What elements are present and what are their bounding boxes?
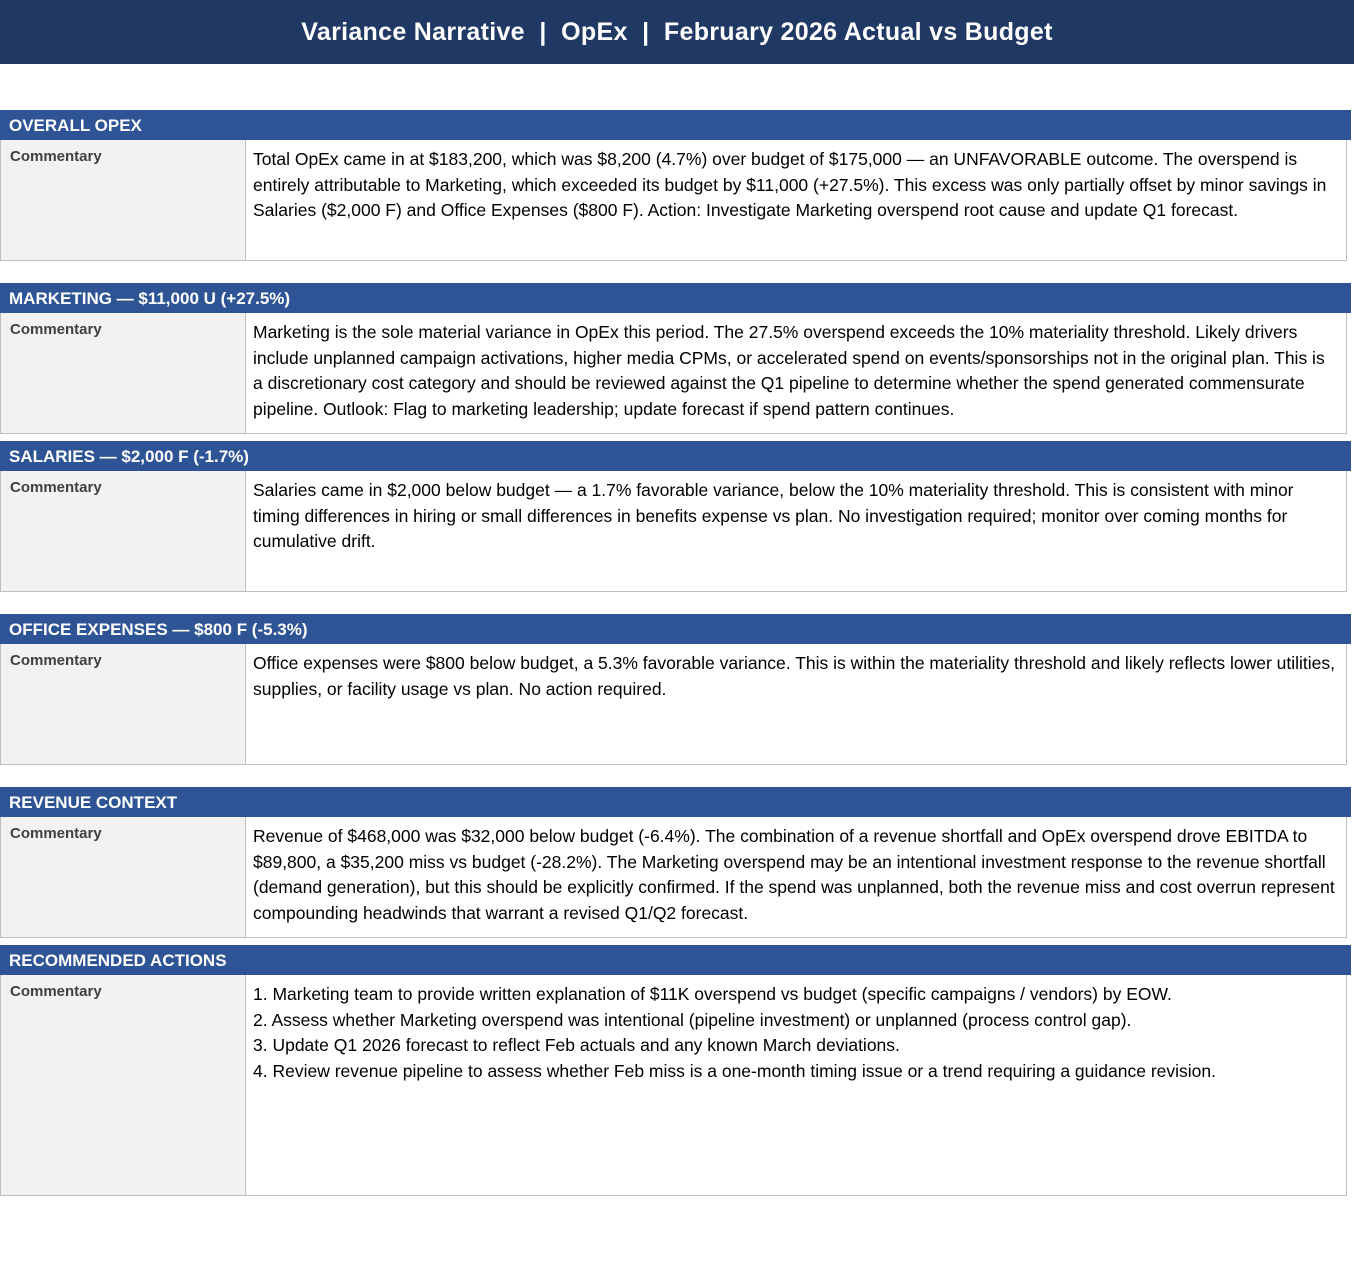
section-header-marketing: MARKETING — $11,000 U (+27.5%) xyxy=(0,283,1351,313)
section-marketing: MARKETING — $11,000 U (+27.5%) Commentar… xyxy=(0,283,1354,434)
commentary-text-cell: Salaries came in $2,000 below budget — a… xyxy=(246,471,1346,591)
section-body-recommended-actions: Commentary 1. Marketing team to provide … xyxy=(0,975,1347,1196)
section-spacer xyxy=(0,261,1354,283)
section-header-recommended-actions: RECOMMENDED ACTIONS xyxy=(0,945,1351,975)
section-heading-label: SALARIES — $2,000 F (-1.7%) xyxy=(9,448,249,465)
commentary-text-cell: Revenue of $468,000 was $32,000 below bu… xyxy=(246,817,1346,937)
section-heading-label: REVENUE CONTEXT xyxy=(9,794,177,811)
commentary-label: Commentary xyxy=(10,148,102,165)
commentary-text-cell: Office expenses were $800 below budget, … xyxy=(246,644,1346,764)
commentary-paragraph: Marketing is the sole material variance … xyxy=(253,320,1336,422)
action-item: 1. Marketing team to provide written exp… xyxy=(253,982,1336,1008)
commentary-label-cell: Commentary xyxy=(1,644,246,764)
section-heading-label: MARKETING — $11,000 U (+27.5%) xyxy=(9,290,290,307)
commentary-label-cell: Commentary xyxy=(1,817,246,937)
section-salaries: SALARIES — $2,000 F (-1.7%) Commentary S… xyxy=(0,441,1354,592)
commentary-label: Commentary xyxy=(10,652,102,669)
document-title: Variance Narrative | OpEx | February 202… xyxy=(301,20,1052,45)
section-header-revenue-context: REVENUE CONTEXT xyxy=(0,787,1351,817)
document-title-bar: Variance Narrative | OpEx | February 202… xyxy=(0,0,1354,64)
commentary-label: Commentary xyxy=(10,825,102,842)
section-heading-label: OFFICE EXPENSES — $800 F (-5.3%) xyxy=(9,621,308,638)
title-spacer xyxy=(0,64,1354,110)
commentary-paragraph: Revenue of $468,000 was $32,000 below bu… xyxy=(253,824,1336,926)
section-spacer xyxy=(0,592,1354,614)
section-body-revenue-context: Commentary Revenue of $468,000 was $32,0… xyxy=(0,817,1347,938)
commentary-label-cell: Commentary xyxy=(1,313,246,433)
section-body-office-expenses: Commentary Office expenses were $800 bel… xyxy=(0,644,1347,765)
commentary-text-cell: 1. Marketing team to provide written exp… xyxy=(246,975,1346,1195)
section-heading-label: OVERALL OPEX xyxy=(9,117,142,134)
commentary-paragraph: Office expenses were $800 below budget, … xyxy=(253,651,1336,702)
commentary-paragraph: Total OpEx came in at $183,200, which wa… xyxy=(253,147,1336,224)
section-header-salaries: SALARIES — $2,000 F (-1.7%) xyxy=(0,441,1351,471)
commentary-label-cell: Commentary xyxy=(1,975,246,1195)
commentary-paragraph: Salaries came in $2,000 below budget — a… xyxy=(253,478,1336,555)
commentary-label-cell: Commentary xyxy=(1,140,246,260)
commentary-text-cell: Total OpEx came in at $183,200, which wa… xyxy=(246,140,1346,260)
action-item: 3. Update Q1 2026 forecast to reflect Fe… xyxy=(253,1033,1336,1059)
section-spacer xyxy=(0,765,1354,787)
commentary-text-cell: Marketing is the sole material variance … xyxy=(246,313,1346,433)
variance-narrative-page: Variance Narrative | OpEx | February 202… xyxy=(0,0,1354,1276)
commentary-label: Commentary xyxy=(10,983,102,1000)
action-item: 4. Review revenue pipeline to assess whe… xyxy=(253,1059,1336,1085)
section-spacer xyxy=(0,434,1354,441)
action-item: 2. Assess whether Marketing overspend wa… xyxy=(253,1008,1336,1034)
section-office-expenses: OFFICE EXPENSES — $800 F (-5.3%) Comment… xyxy=(0,614,1354,765)
commentary-label-cell: Commentary xyxy=(1,471,246,591)
section-revenue-context: REVENUE CONTEXT Commentary Revenue of $4… xyxy=(0,787,1354,938)
section-body-marketing: Commentary Marketing is the sole materia… xyxy=(0,313,1347,434)
section-spacer xyxy=(0,938,1354,945)
section-header-overall-opex: OVERALL OPEX xyxy=(0,110,1351,140)
section-header-office-expenses: OFFICE EXPENSES — $800 F (-5.3%) xyxy=(0,614,1351,644)
section-body-overall-opex: Commentary Total OpEx came in at $183,20… xyxy=(0,140,1347,261)
section-recommended-actions: RECOMMENDED ACTIONS Commentary 1. Market… xyxy=(0,945,1354,1196)
section-body-salaries: Commentary Salaries came in $2,000 below… xyxy=(0,471,1347,592)
commentary-label: Commentary xyxy=(10,321,102,338)
section-heading-label: RECOMMENDED ACTIONS xyxy=(9,952,227,969)
section-overall-opex: OVERALL OPEX Commentary Total OpEx came … xyxy=(0,110,1354,261)
commentary-label: Commentary xyxy=(10,479,102,496)
